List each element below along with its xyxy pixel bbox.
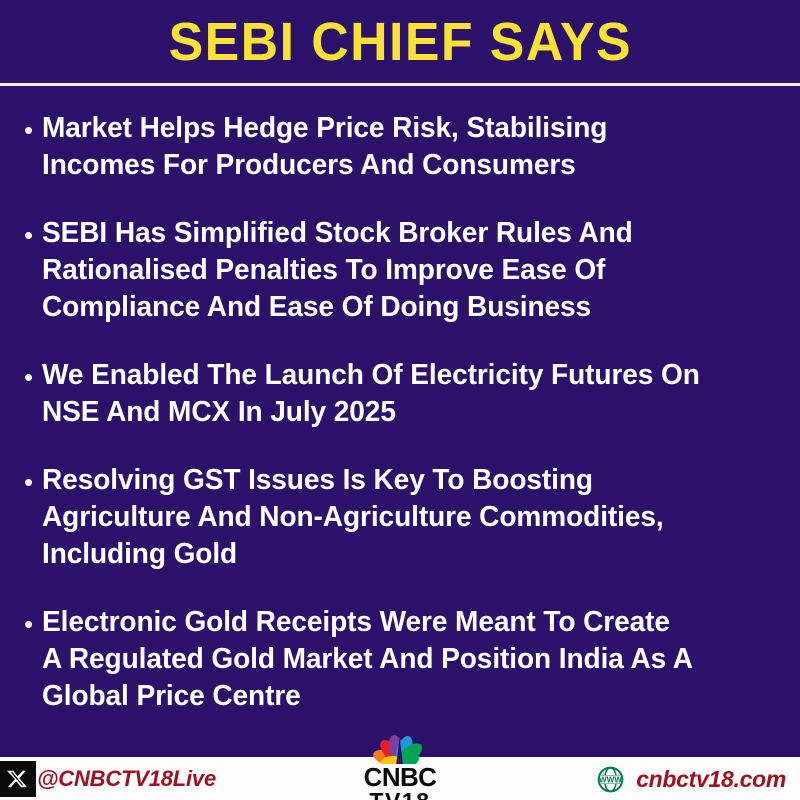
- list-item: • Market Helps Hedge Price Risk, Stabili…: [22, 110, 786, 184]
- bullet-list: • Market Helps Hedge Price Risk, Stabili…: [0, 86, 800, 757]
- bullet-point-icon: •: [22, 215, 42, 255]
- bullet-text-3: We Enabled The Launch Of Electricity Fut…: [42, 357, 775, 431]
- list-item: • Resolving GST Issues Is Key To Boostin…: [22, 462, 786, 573]
- x-twitter-icon[interactable]: [0, 761, 36, 797]
- svg-text:WWW: WWW: [599, 775, 622, 784]
- website-group[interactable]: WWW cnbctv18.com: [597, 762, 786, 796]
- list-item: • Electronic Gold Receipts Were Meant To…: [22, 604, 786, 715]
- header-banner: SEBI CHIEF SAYS: [0, 0, 800, 83]
- bullet-point-icon: •: [22, 110, 42, 150]
- bullet-text-2: SEBI Has Simplified Stock Broker Rules A…: [42, 215, 775, 326]
- bullet-point-icon: •: [22, 462, 42, 502]
- www-globe-icon: WWW: [597, 766, 624, 793]
- logo-text-tv18: TV18: [336, 790, 464, 800]
- bullet-text-4: Resolving GST Issues Is Key To Boosting …: [42, 462, 775, 573]
- cnbc-peacock-icon: [352, 724, 447, 764]
- logo-text-cnbc: CNBC: [336, 765, 464, 790]
- cnbc-tv18-logo: CNBC TV18: [336, 724, 464, 800]
- bullet-point-icon: •: [22, 604, 42, 644]
- social-handle-group[interactable]: @CNBCTV18Live: [0, 761, 216, 797]
- list-item: • We Enabled The Launch Of Electricity F…: [22, 357, 786, 431]
- page-title: SEBI CHIEF SAYS: [168, 15, 631, 69]
- bullet-text-1: Market Helps Hedge Price Risk, Stabilisi…: [42, 110, 775, 184]
- list-item: • SEBI Has Simplified Stock Broker Rules…: [22, 215, 786, 326]
- bullet-text-5: Electronic Gold Receipts Were Meant To C…: [42, 604, 775, 715]
- social-handle-label[interactable]: @CNBCTV18Live: [37, 766, 216, 792]
- bullet-point-icon: •: [22, 357, 42, 397]
- news-card: SEBI CHIEF SAYS • Market Helps Hedge Pri…: [0, 0, 800, 800]
- website-label[interactable]: cnbctv18.com: [636, 766, 786, 793]
